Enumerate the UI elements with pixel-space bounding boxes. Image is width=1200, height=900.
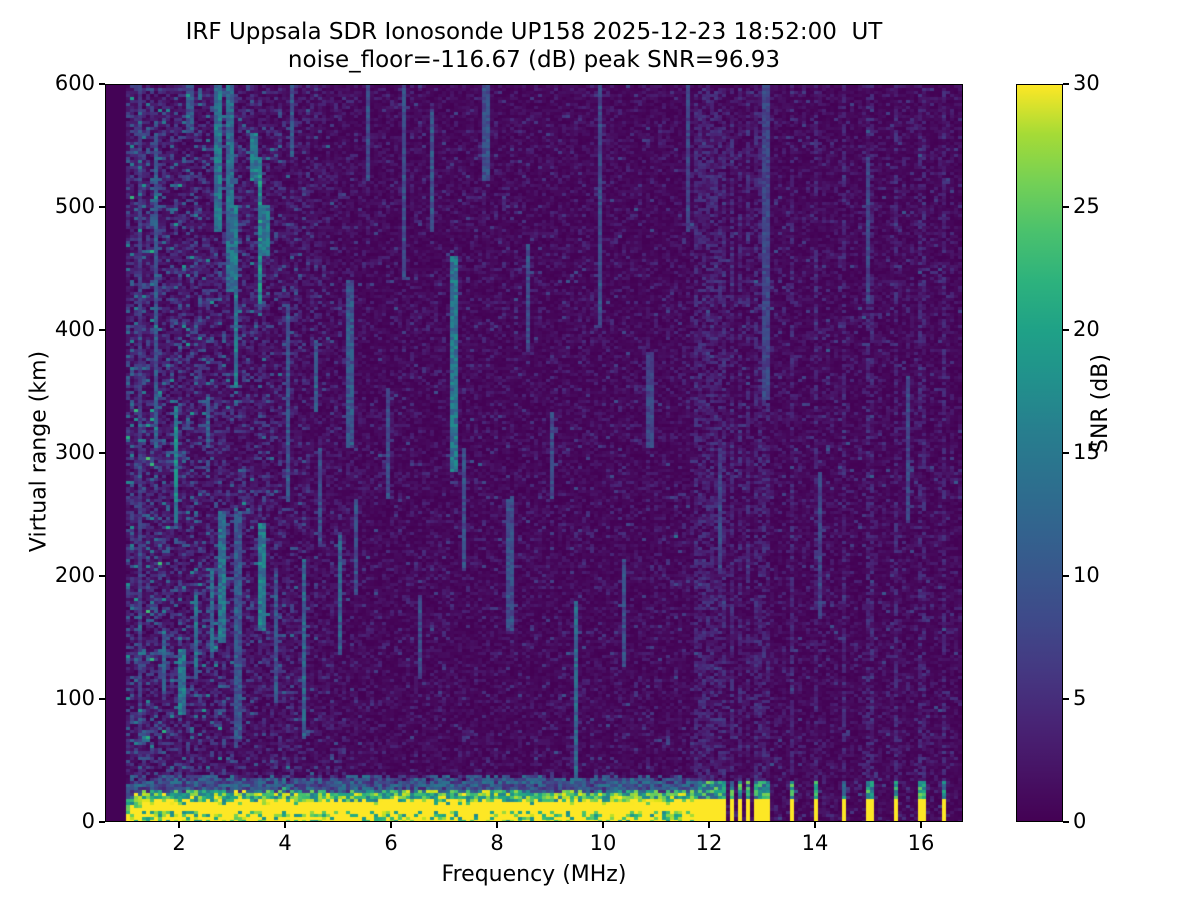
colorbar[interactable]: [1016, 84, 1063, 822]
x-tick-mark: [920, 822, 921, 828]
ionogram-plot-area[interactable]: [105, 84, 963, 822]
y-tick-mark: [99, 206, 105, 207]
colorbar-tick-mark: [1063, 575, 1069, 576]
colorbar-tick-label: 25: [1073, 194, 1100, 218]
colorbar-tick-label: 30: [1073, 71, 1100, 95]
y-tick-label: 300: [55, 440, 95, 464]
page-title: IRF Uppsala SDR Ionosonde UP158 2025-12-…: [105, 18, 963, 74]
y-tick-mark: [99, 83, 105, 84]
x-tick-label: 6: [361, 831, 421, 855]
y-axis-label: Virtual range (km): [27, 83, 52, 821]
heatmap-canvas[interactable]: [106, 85, 962, 821]
y-tick-mark: [99, 575, 105, 576]
colorbar-ticks: 0 5 10 15 20 25 30: [1063, 84, 1183, 822]
x-tick-label: 16: [891, 831, 951, 855]
colorbar-tick-label: 5: [1073, 686, 1086, 710]
colorbar-tick-label: 20: [1073, 317, 1100, 341]
colorbar-tick-mark: [1063, 698, 1069, 699]
colorbar-tick-mark: [1063, 206, 1069, 207]
y-tick-mark: [99, 698, 105, 699]
x-tick-mark: [602, 822, 603, 828]
y-tick-label: 100: [55, 686, 95, 710]
y-tick-label: 0: [82, 809, 95, 833]
colorbar-tick-label: 10: [1073, 563, 1100, 587]
x-axis-label: Frequency (MHz): [105, 862, 963, 887]
y-tick-label: 200: [55, 563, 95, 587]
x-tick-label: 8: [467, 831, 527, 855]
x-tick-label: 12: [679, 831, 739, 855]
y-tick-label: 600: [55, 71, 95, 95]
colorbar-tick-label: 0: [1073, 809, 1086, 833]
colorbar-tick-mark: [1063, 452, 1069, 453]
x-tick-label: 14: [785, 831, 845, 855]
x-tick-label: 4: [255, 831, 315, 855]
y-tick-mark: [99, 329, 105, 330]
colorbar-tick-mark: [1063, 821, 1069, 822]
colorbar-tick-mark: [1063, 83, 1069, 84]
y-tick-mark: [99, 452, 105, 453]
x-tick-mark: [284, 822, 285, 828]
y-axis: Virtual range (km) 0 100 200 300 400 500…: [0, 84, 105, 822]
x-tick-mark: [814, 822, 815, 828]
y-tick-label: 400: [55, 317, 95, 341]
x-tick-mark: [390, 822, 391, 828]
x-tick-label: 2: [149, 831, 209, 855]
colorbar-tick-mark: [1063, 329, 1069, 330]
x-tick-mark: [708, 822, 709, 828]
y-tick-label: 500: [55, 194, 95, 218]
ionogram-figure: IRF Uppsala SDR Ionosonde UP158 2025-12-…: [0, 0, 1200, 900]
title-line-2: noise_floor=-116.67 (dB) peak SNR=96.93: [105, 46, 963, 74]
x-tick-label: 10: [573, 831, 633, 855]
x-tick-mark: [178, 822, 179, 828]
x-tick-mark: [496, 822, 497, 828]
x-axis: 2 4 6 8 10 12 14 16 Frequency: [105, 822, 963, 900]
title-line-1: IRF Uppsala SDR Ionosonde UP158 2025-12-…: [105, 18, 963, 46]
colorbar-label: SNR (dB): [1088, 354, 1113, 453]
